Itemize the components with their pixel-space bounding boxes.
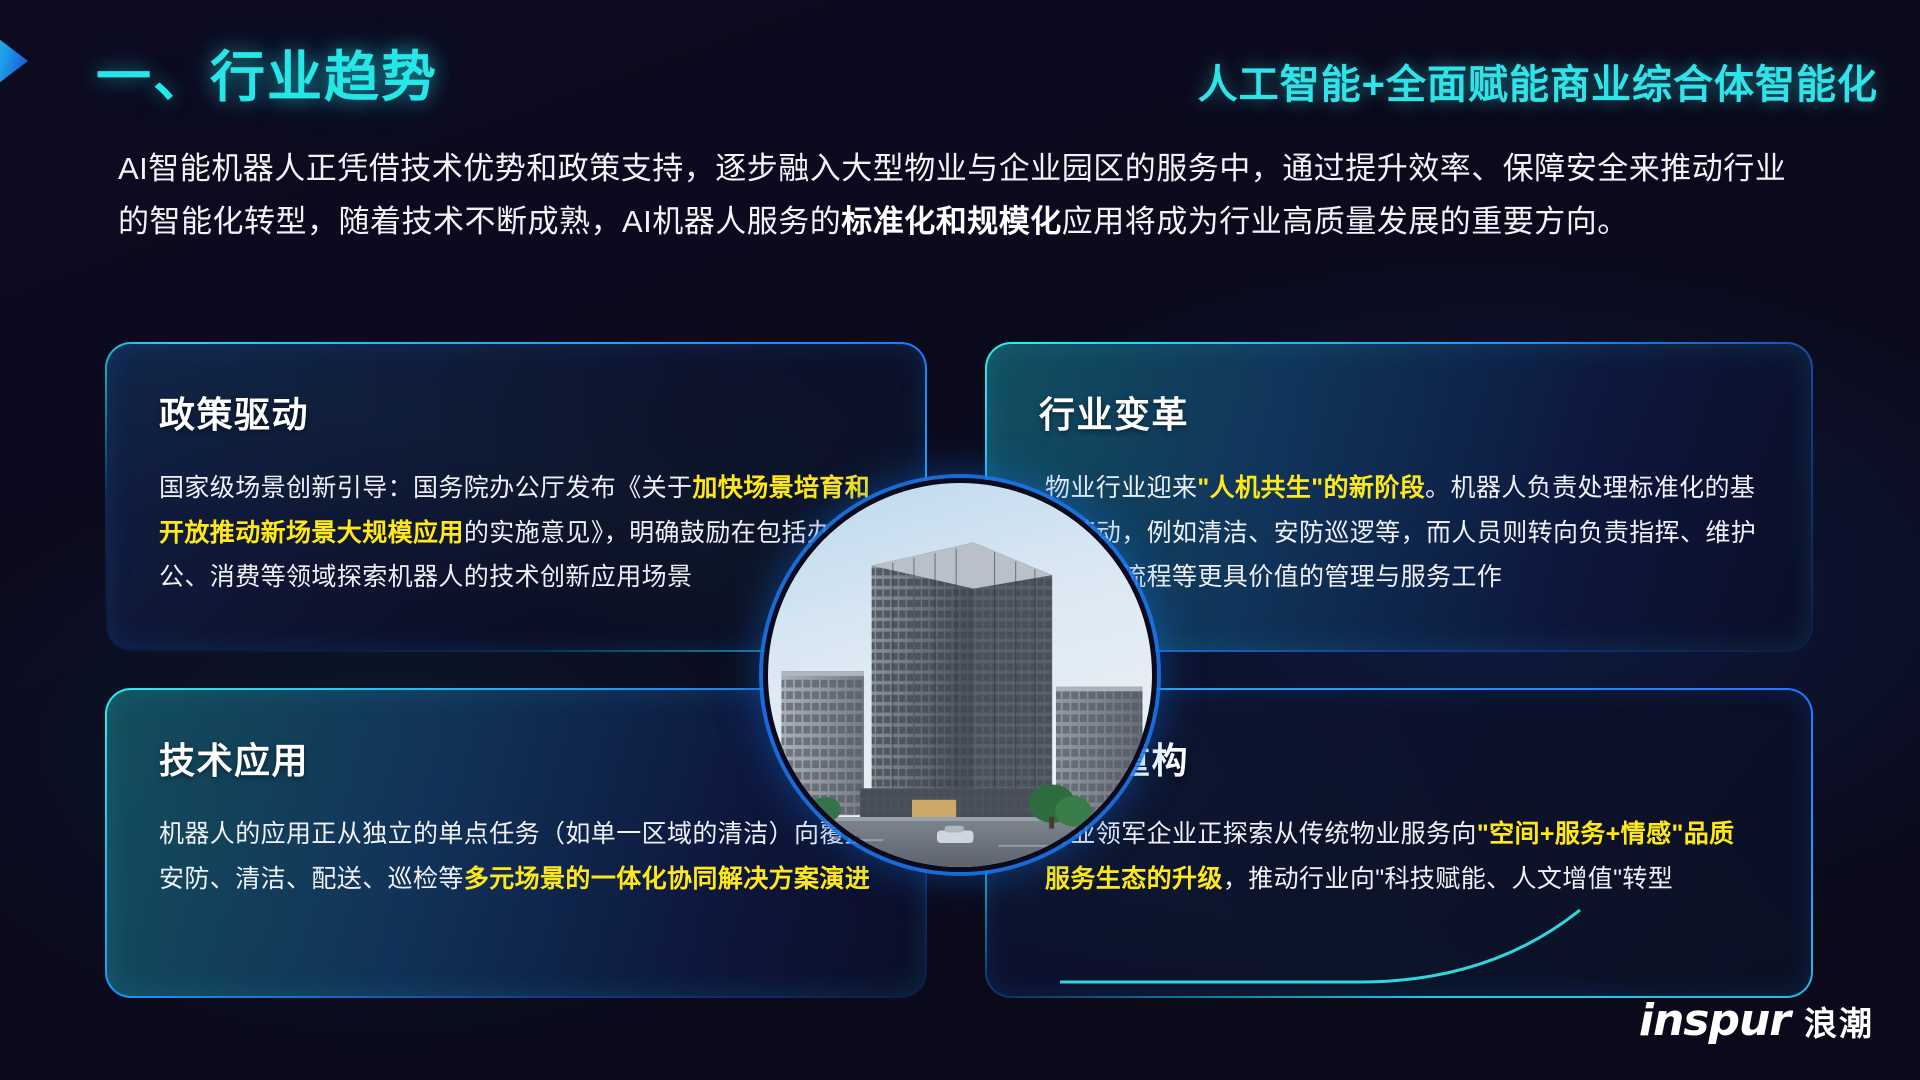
card-tech-body: 机器人的应用正从独立的单点任务（如单一区域的清洁）向覆盖安防、清洁、配送、巡检等… [159,812,873,901]
card-reform-title: 行业变革 [1039,386,1759,438]
chevron-right-icon [0,22,60,100]
logo-cn: 浪潮 [1804,997,1874,1045]
header-subtitle: 人工智能+全面赋能商业综合体智能化 [1198,52,1878,110]
intro-text-part2: 应用将成为行业高质量发展的重要方向。 [1062,204,1629,239]
slide-root: 一、行业趋势 人工智能+全面赋能商业综合体智能化 AI智能机器人正凭借技术优势和… [0,0,1920,1080]
page-title: 一、行业趋势 [96,32,438,112]
building-photo [763,478,1157,872]
card-policy-body: 国家级场景创新引导：国务院办公厅发布《关于加快场景培育和开放推动新场景大规模应用… [159,466,873,600]
inspur-logo: inspur 浪潮 [1639,995,1874,1046]
card-reform-text1: 物业行业迎来 [1045,474,1197,502]
slide-header: 一、行业趋势 人工智能+全面赋能商业综合体智能化 [0,0,1920,118]
card-value-title: 价值重构 [1039,732,1759,784]
intro-bold: 标准化和规模化 [841,204,1062,239]
intro-paragraph: AI智能机器人正凭借技术优势和政策支持，逐步融入大型物业与企业园区的服务中，通过… [118,142,1808,249]
card-policy-title: 政策驱动 [159,386,873,438]
card-reform-highlight: "人机共生"的新阶段 [1197,474,1425,502]
card-value-text1: 行业领军企业正探索从传统物业服务向 [1045,820,1477,848]
logo-en: inspur [1639,995,1790,1046]
card-tech-title: 技术应用 [159,732,873,784]
card-value-text2: ，推动行业向"科技赋能、人文增值"转型 [1223,865,1673,893]
card-reform-body: 物业行业迎来"人机共生"的新阶段。机器人负责处理标准化的基础劳动，例如清洁、安防… [1039,466,1759,600]
card-value-body: 行业领军企业正探索从传统物业服务向"空间+服务+情感"品质服务生态的升级，推动行… [1039,812,1759,901]
card-policy-text1: 国家级场景创新引导：国务院办公厅发布《关于 [159,474,692,502]
card-tech-highlight: 多元场景的一体化协同解决方案演进 [464,865,870,893]
